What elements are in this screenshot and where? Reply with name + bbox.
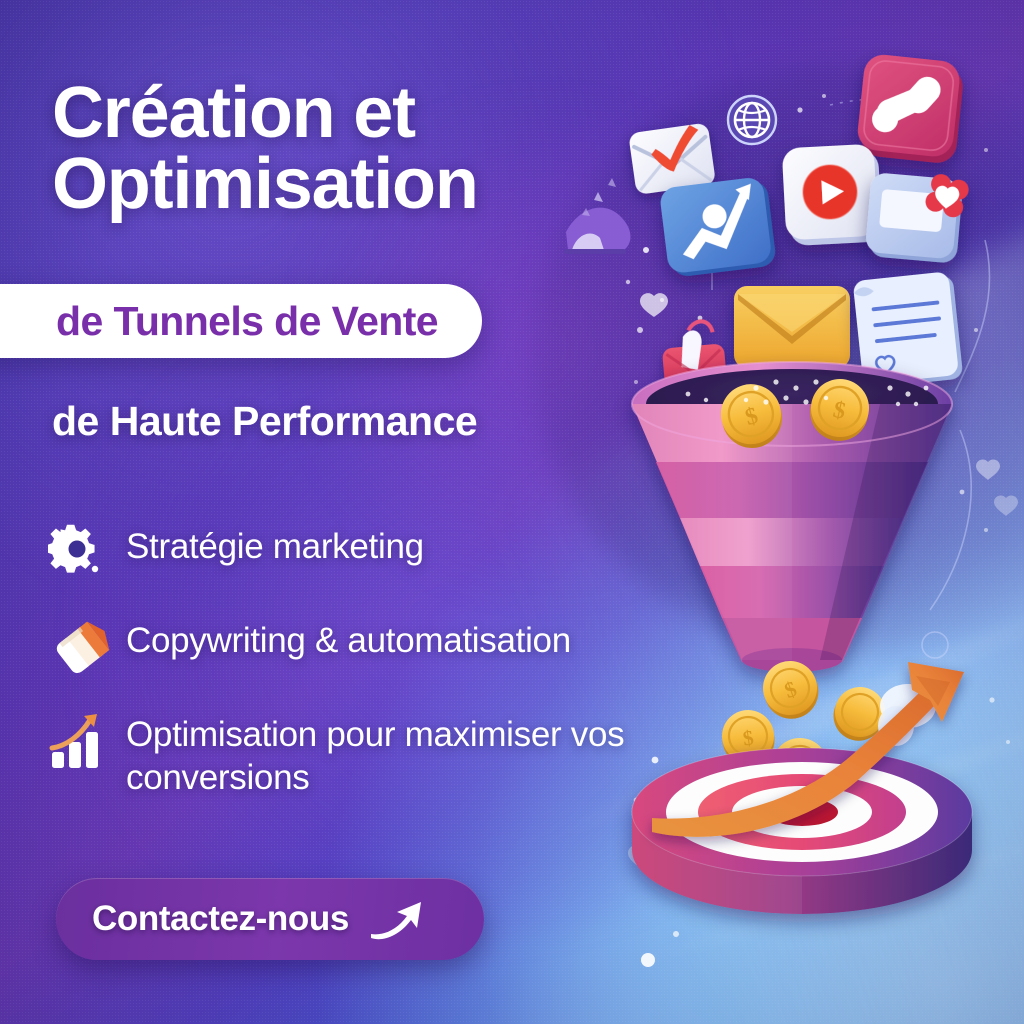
page-title: Création et Optimisation (52, 78, 632, 221)
growth-chart-icon (48, 712, 110, 770)
highlight-pill: de Tunnels de Vente (0, 284, 482, 358)
list-item-label: Stratégie marketing (126, 524, 424, 569)
pencil-icon (48, 618, 110, 676)
pill-label: de Tunnels de Vente (56, 298, 438, 345)
list-item-label: Optimisation pour maximiser vos conversi… (126, 712, 728, 799)
list-item-label: Copywriting & automatisation (126, 618, 571, 663)
list-item: Stratégie marketing (48, 524, 728, 582)
list-item: Optimisation pour maximiser vos conversi… (48, 712, 728, 799)
subtitle: de Haute Performance (52, 398, 477, 445)
contact-cta-button[interactable]: Contactez-nous (56, 878, 484, 960)
gear-icon (48, 524, 110, 582)
headline-line-1: Création et (52, 78, 632, 149)
headline-line-2: Optimisation (52, 149, 632, 220)
arrow-up-right-icon (367, 896, 425, 942)
promo-graphic-canvas: $ $ $ (0, 0, 1024, 1024)
feature-list: Stratégie marketing Copywriting & automa… (48, 524, 728, 835)
cta-label: Contactez-nous (92, 899, 349, 939)
list-item: Copywriting & automatisation (48, 618, 728, 676)
